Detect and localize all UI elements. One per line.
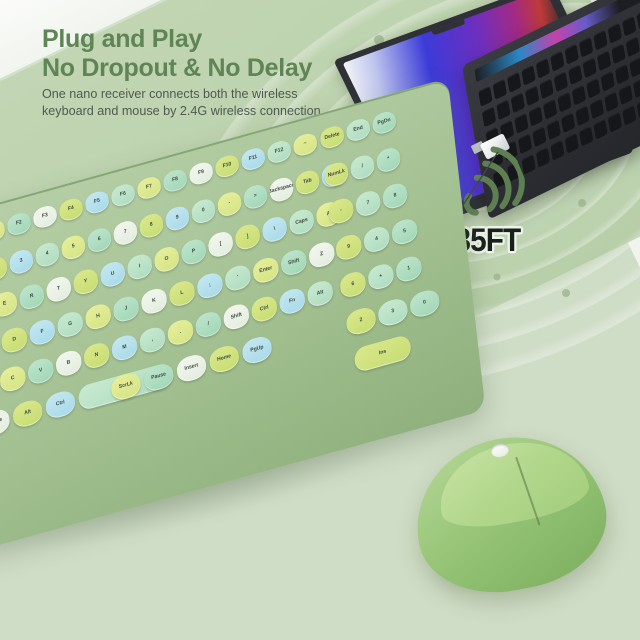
laptop-key xyxy=(593,119,607,140)
keyboard-key: F2 xyxy=(6,211,31,238)
keyboard-key: Fn xyxy=(278,286,306,316)
keyboard-key: * xyxy=(376,146,402,175)
laptop-key xyxy=(622,105,636,126)
laptop-key xyxy=(622,16,636,37)
keyboard-key: F5 xyxy=(84,189,109,216)
keyboard-key: Y xyxy=(72,267,99,297)
laptop-key xyxy=(557,92,571,113)
keyboard-key: 9 xyxy=(165,204,191,233)
keyboard-key: 1 xyxy=(395,254,423,284)
keyboard-key: Ctrl xyxy=(45,388,77,420)
keyboard-key: 3 xyxy=(8,247,34,276)
keyboard-key: ] xyxy=(234,222,261,252)
keyboard-key: N xyxy=(83,340,111,370)
keyboard-key: , xyxy=(139,325,167,355)
laptop-key xyxy=(586,78,600,99)
keyboard-key: 8 xyxy=(139,211,165,240)
laptop-key xyxy=(511,92,525,113)
laptop-key xyxy=(536,147,550,168)
keyboard-key: R xyxy=(18,282,45,312)
keyboard-key: ' xyxy=(224,263,252,293)
laptop-key xyxy=(561,112,575,133)
laptop-key xyxy=(593,30,607,51)
keyboard-key: F xyxy=(28,317,56,347)
keyboard-key: 7 xyxy=(113,219,139,248)
keyboard-key: + xyxy=(367,262,395,292)
laptop-key xyxy=(629,57,640,78)
keyboard-key: Ins xyxy=(353,334,412,374)
keyboard-key: Insert xyxy=(176,352,208,384)
keyboard-key: 0 xyxy=(409,287,441,319)
keyboard-key: D xyxy=(0,325,28,355)
keyboard-key: F6 xyxy=(110,182,135,209)
keyboard-key: NumLk xyxy=(324,160,350,189)
laptop-key xyxy=(550,140,564,161)
keyboard-key: = xyxy=(243,183,269,212)
laptop-key xyxy=(626,36,640,57)
keyboard-key: Caps xyxy=(288,207,315,237)
laptop-key xyxy=(600,71,614,92)
keyboard-key: 2 xyxy=(345,305,377,337)
laptop-key xyxy=(572,85,586,106)
keyboard-key: 5 xyxy=(61,233,87,262)
laptop-key xyxy=(529,106,543,127)
keyboard-key: PgDn xyxy=(372,109,397,136)
keyboard-key: F9 xyxy=(188,160,213,187)
keyboard-key: 6 xyxy=(339,269,367,299)
keyboard-key: [ xyxy=(207,229,234,259)
laptop-key xyxy=(543,99,557,120)
keyboard-key: F8 xyxy=(162,167,187,194)
laptop-key xyxy=(496,99,510,120)
laptop-key xyxy=(507,72,521,93)
keyboard-key: 2 xyxy=(0,255,8,284)
keyboard-key: G xyxy=(56,309,84,339)
laptop-key xyxy=(579,37,593,58)
laptop-key xyxy=(564,44,578,65)
subtitle-line-1: One nano receiver connects both the wire… xyxy=(42,86,362,103)
keyboard-key: / xyxy=(350,153,376,182)
keyboard-key: F11 xyxy=(240,146,265,173)
keyboard-key: F10 xyxy=(214,153,239,180)
keyboard-key: 4 xyxy=(363,224,391,254)
keyboard-key: - xyxy=(328,196,355,226)
laptop-key xyxy=(575,105,589,126)
laptop-key xyxy=(636,98,640,119)
keyboard-key: . xyxy=(167,317,195,347)
keyboard-key: 8 xyxy=(382,181,409,211)
laptop-key xyxy=(604,91,618,112)
laptop-key xyxy=(554,71,568,92)
keyboard-key: Backspace xyxy=(269,175,295,204)
laptop-key xyxy=(514,113,528,134)
keyboard-key: V xyxy=(27,356,55,386)
keyboard-key: F3 xyxy=(32,204,57,231)
laptop-key xyxy=(482,106,496,127)
keyboard-key: T xyxy=(45,274,72,304)
keyboard-key: Space xyxy=(0,407,11,439)
page-title: Plug and Play No Dropout & No Delay xyxy=(42,25,372,83)
laptop-key xyxy=(636,9,640,30)
keyboard-key: C xyxy=(0,364,27,394)
laptop-key xyxy=(590,98,604,119)
laptop-key xyxy=(536,58,550,79)
keyboard-key: F1 xyxy=(0,218,6,245)
laptop-key xyxy=(478,86,492,107)
keyboard-key: ; xyxy=(196,271,224,301)
keyboard-key: End xyxy=(345,117,370,144)
keyboard-key: - xyxy=(217,190,243,219)
keyboard-key: 4 xyxy=(35,240,61,269)
laptop-key xyxy=(597,50,611,71)
laptop-key xyxy=(579,126,593,147)
keyboard-key: Alt xyxy=(12,397,44,429)
keyboard-key: 9 xyxy=(335,232,363,262)
laptop-key xyxy=(547,119,561,140)
keyboard-key: 6 xyxy=(87,226,113,255)
keyboard-key: Shift xyxy=(280,247,308,277)
mouse-button-divider xyxy=(515,457,540,526)
keyboard-key: M xyxy=(111,333,139,363)
laptop-key xyxy=(633,77,640,98)
keyboard-key: ~ xyxy=(292,131,317,158)
keyboard-key: Enter xyxy=(252,255,280,285)
keyboard-key: Pause xyxy=(143,361,175,393)
laptop-key xyxy=(539,78,553,99)
keyboard-key: 5 xyxy=(391,217,419,247)
keyboard-key: PgUp xyxy=(241,334,273,366)
keyboard-key: U xyxy=(99,259,126,289)
keyboard-key: 7 xyxy=(355,189,382,219)
keyboard-key: B xyxy=(55,348,83,378)
screen-notch xyxy=(432,19,466,35)
headline-line-2: No Dropout & No Delay xyxy=(42,54,372,83)
keyboard-key: H xyxy=(84,302,112,332)
keyboard-key: Tab xyxy=(295,168,321,197)
wireless-mouse xyxy=(415,438,605,598)
laptop-key xyxy=(565,133,579,154)
laptop-key xyxy=(521,65,535,86)
keyboard-key: I xyxy=(126,252,153,282)
laptop-key xyxy=(608,23,622,44)
keyboard-key: F12 xyxy=(266,139,291,166)
keyboard-key: / xyxy=(195,309,223,339)
keyboard-key: K xyxy=(140,286,168,316)
keyboard-key: Delete xyxy=(319,124,344,151)
laptop-key xyxy=(518,133,532,154)
laptop-key xyxy=(582,57,596,78)
keyboard-key: F7 xyxy=(136,175,161,202)
keyboard-key: E xyxy=(0,289,18,319)
keyboard-key: 0 xyxy=(191,197,217,226)
laptop-key xyxy=(493,79,507,100)
laptop-key xyxy=(532,126,546,147)
keyboard-key: L xyxy=(168,278,196,308)
product-banner: Plug and Play No Dropout & No Delay One … xyxy=(0,0,640,640)
laptop-key xyxy=(568,64,582,85)
keyboard-key: J xyxy=(112,294,140,324)
keyboard-key: P xyxy=(180,237,207,267)
laptop-key xyxy=(608,112,622,133)
keyboard-key: F4 xyxy=(58,196,83,223)
laptop-key xyxy=(618,84,632,105)
headline-line-1: Plug and Play xyxy=(42,25,202,53)
keyboard-key: Home xyxy=(208,343,240,375)
laptop-key xyxy=(615,64,629,85)
keyboard-key: Alt xyxy=(306,278,334,308)
keyboard-key: Z xyxy=(308,240,336,270)
keyboard-key: ScrLk xyxy=(110,370,142,402)
laptop-key xyxy=(611,43,625,64)
keyboard-key: Shift xyxy=(223,302,251,332)
laptop-key xyxy=(525,85,539,106)
laptop-key xyxy=(521,154,535,175)
keyboard-key: 3 xyxy=(377,296,409,328)
keyboard-key: Ctrl xyxy=(250,294,278,324)
keyboard-key: O xyxy=(153,244,180,274)
laptop-key xyxy=(550,51,564,72)
keyboard-key: \ xyxy=(261,214,288,244)
